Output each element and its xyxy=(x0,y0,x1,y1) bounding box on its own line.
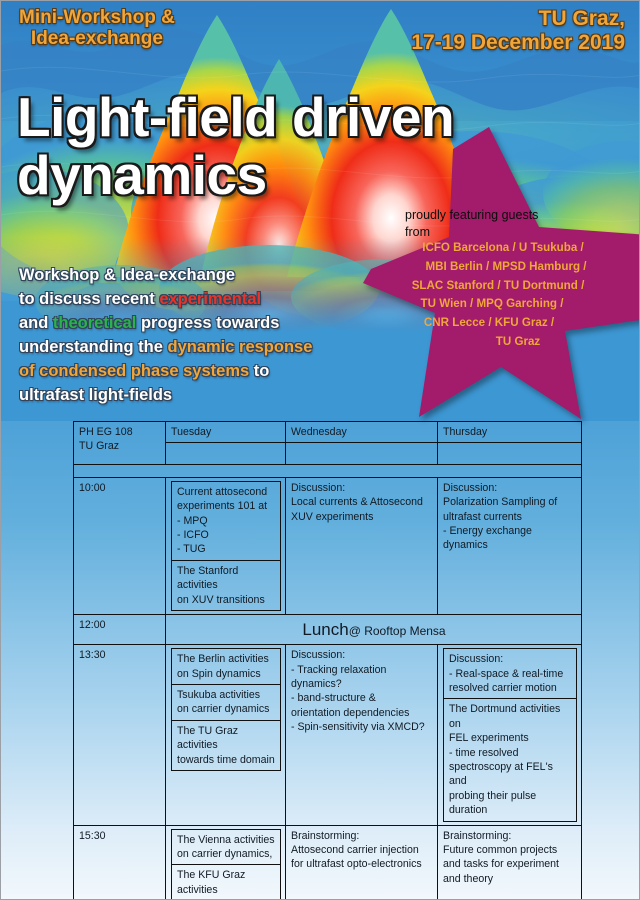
lunch-label: Lunch xyxy=(302,620,348,639)
blurb-line-5: of condensed phase systems to xyxy=(19,359,379,383)
workshop-description: Workshop & Idea-exchange to discuss rece… xyxy=(19,263,379,407)
row-time: 15:30 xyxy=(74,825,166,900)
cell-thursday: Brainstorming: Future common projects an… xyxy=(438,825,582,900)
highlight-experimental: experimental xyxy=(159,290,261,308)
header-wednesday: Wednesday xyxy=(286,422,438,443)
highlight-condensed-phase: of condensed phase systems xyxy=(19,362,249,380)
header-tuesday-spacer xyxy=(166,443,286,464)
session-item: The Berlin activities on Spin dynamics xyxy=(172,649,281,685)
poster-canvas: Mini-Workshop & Idea-exchange TU Graz, 1… xyxy=(0,0,640,900)
venue-date: TU Graz, 17-19 December 2019 xyxy=(411,7,625,54)
session-item: The TU Graz activities towards time doma… xyxy=(172,720,281,770)
blurb-line-4: understanding the dynamic response xyxy=(19,335,379,359)
session-item: Current attosecond experiments 101 at - … xyxy=(172,481,281,560)
cell-lunch: Lunch@ Rooftop Mensa xyxy=(166,615,582,645)
blurb-line-3: and theoretical progress towards xyxy=(19,311,379,335)
cell-tuesday: The Berlin activities on Spin dynamics T… xyxy=(166,645,286,825)
guest-line: TU Graz xyxy=(393,333,603,352)
row-time: 10:00 xyxy=(74,477,166,614)
blurb-line-6: ultrafast light-fields xyxy=(19,383,379,407)
table-row: 13:30 The Berlin activities on Spin dyna… xyxy=(74,645,582,825)
guest-line: TU Wien / MPQ Garching / xyxy=(393,295,603,314)
session-item: The KFU Graz activities on band-structur… xyxy=(172,865,281,900)
schedule-table: PH EG 108 TU Graz Tuesday Wednesday Thur… xyxy=(73,421,582,900)
highlight-theoretical: theoretical xyxy=(53,314,136,332)
cell-tuesday: The Vienna activities on carrier dynamic… xyxy=(166,825,286,900)
guest-line: CNR Lecce / KFU Graz / xyxy=(393,314,603,333)
guest-line: SLAC Stanford / TU Dortmund / xyxy=(393,277,603,296)
session-item: Tsukuba activities on carrier dynamics xyxy=(172,684,281,720)
highlight-dynamic-response: dynamic response xyxy=(168,338,313,356)
row-time: 13:30 xyxy=(74,645,166,825)
cell-thursday: Discussion: - Real-space & real-time res… xyxy=(438,645,582,825)
header-tuesday: Tuesday xyxy=(166,422,286,443)
cell-wednesday: Discussion: Local currents & Attosecond … xyxy=(286,477,438,614)
table-row-lunch: 12:00 Lunch@ Rooftop Mensa xyxy=(74,615,582,645)
table-header-row: PH EG 108 TU Graz Tuesday Wednesday Thur… xyxy=(74,422,582,443)
session-item: Discussion: - Real-space & real-time res… xyxy=(444,649,577,699)
blurb-line-2: to discuss recent experimental xyxy=(19,287,379,311)
cell-wednesday: Brainstorming: Attosecond carrier inject… xyxy=(286,825,438,900)
guest-line: ICFO Barcelona / U Tsukuba / xyxy=(393,239,603,258)
blurb-line-1: Workshop & Idea-exchange xyxy=(19,263,379,287)
header-wednesday-spacer xyxy=(286,443,438,464)
session-item: The Stanford activities on XUV transitio… xyxy=(172,560,281,610)
separator-strip xyxy=(74,464,582,477)
guest-line: MBI Berlin / MPSD Hamburg / xyxy=(393,258,603,277)
guest-heading: proudly featuring guests from xyxy=(405,207,585,240)
table-separator-row xyxy=(74,464,582,477)
workshop-kicker: Mini-Workshop & Idea-exchange xyxy=(19,7,175,50)
session-item: The Vienna activities on carrier dynamic… xyxy=(172,829,281,865)
cell-tuesday: Current attosecond experiments 101 at - … xyxy=(166,477,286,614)
cell-thursday: Discussion: Polarization Sampling of ult… xyxy=(438,477,582,614)
guest-institution-list: ICFO Barcelona / U Tsukuba / MBI Berlin … xyxy=(393,239,603,352)
header-venue: PH EG 108 TU Graz xyxy=(74,422,166,465)
row-time: 12:00 xyxy=(74,615,166,645)
cell-wednesday: Discussion: - Tracking relaxation dynami… xyxy=(286,645,438,825)
header-thursday: Thursday xyxy=(438,422,582,443)
lunch-location: @ Rooftop Mensa xyxy=(349,624,446,638)
table-row: 10:00 Current attosecond experiments 101… xyxy=(74,477,582,614)
session-item: The Dortmund activities on FEL experimen… xyxy=(444,699,577,821)
header-thursday-spacer xyxy=(438,443,582,464)
table-row: 15:30 The Vienna activities on carrier d… xyxy=(74,825,582,900)
